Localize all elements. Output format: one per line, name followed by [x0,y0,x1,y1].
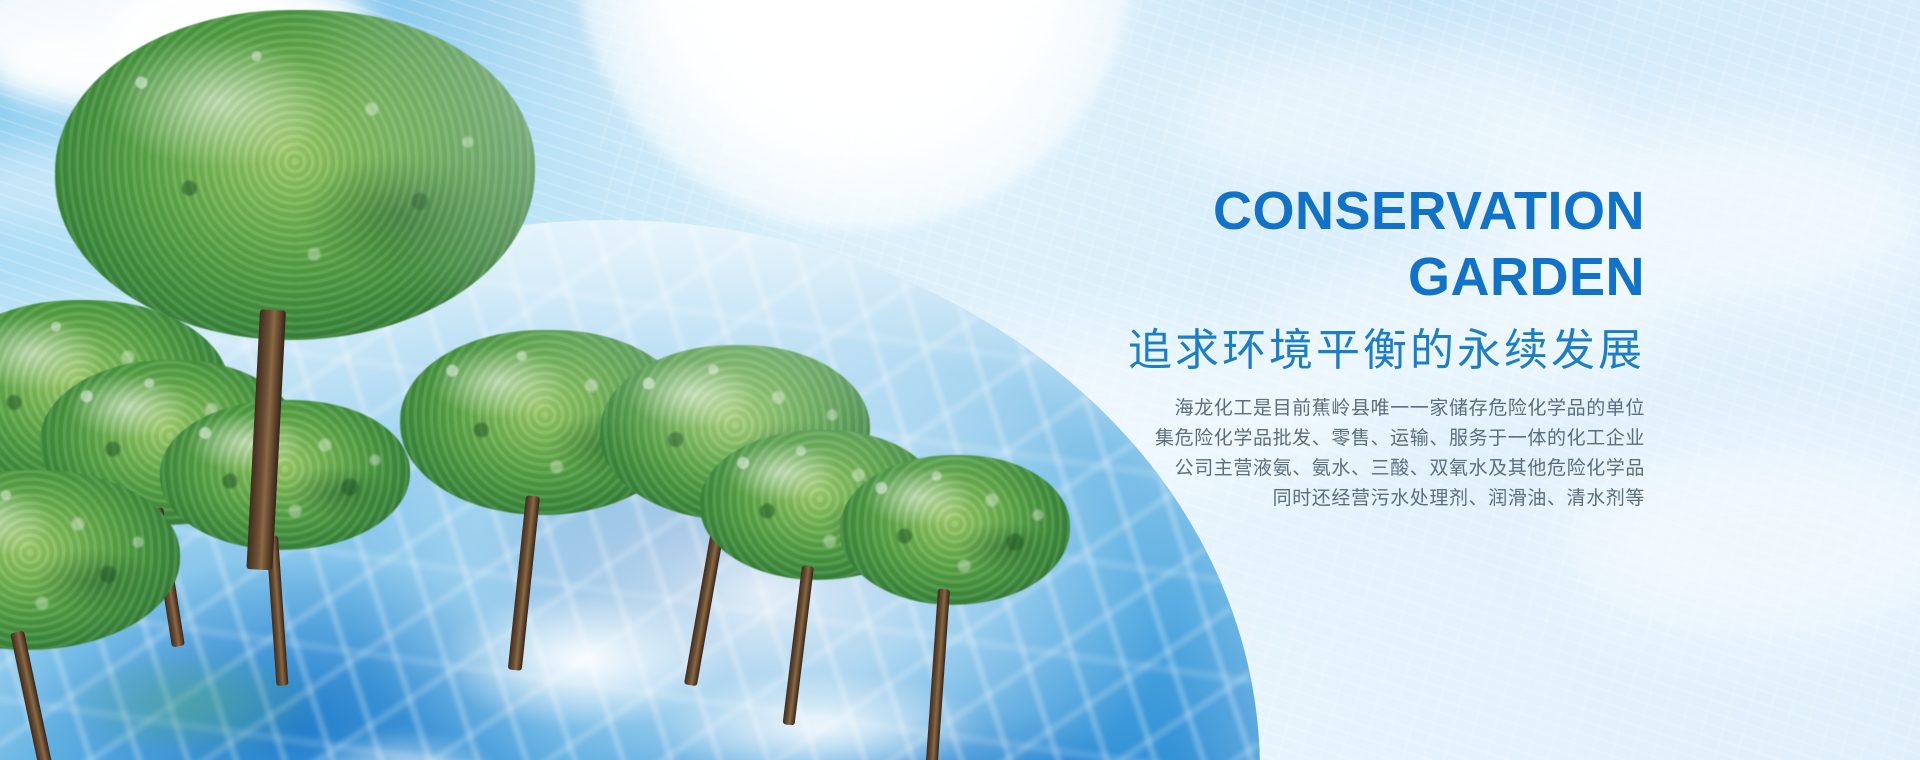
hero-banner: CONSERVATION GARDEN 追求环境平衡的永续发展 海龙化工是目前蕉… [0,0,1920,760]
tree-trunk [246,309,286,570]
description-line: 公司主营液氨、氨水、三酸、双氧水及其他危险化学品 [945,454,1645,484]
description-line: 海龙化工是目前蕉岭县唯一一家储存危险化学品的单位 [945,394,1645,424]
headline: CONSERVATION GARDEN [945,178,1645,310]
description-block: 海龙化工是目前蕉岭县唯一一家储存危险化学品的单位 集危险化学品批发、零售、运输、… [945,394,1645,514]
headline-line-2: GARDEN [945,244,1645,310]
subheadline: 追求环境平衡的永续发展 [945,324,1645,378]
headline-line-1: CONSERVATION [1213,181,1645,241]
description-line: 集危险化学品批发、零售、运输、服务于一体的化工企业 [945,424,1645,454]
banner-copy: CONSERVATION GARDEN 追求环境平衡的永续发展 海龙化工是目前蕉… [945,178,1645,514]
description-line: 同时还经营污水处理剂、润滑油、清水剂等 [945,484,1645,514]
